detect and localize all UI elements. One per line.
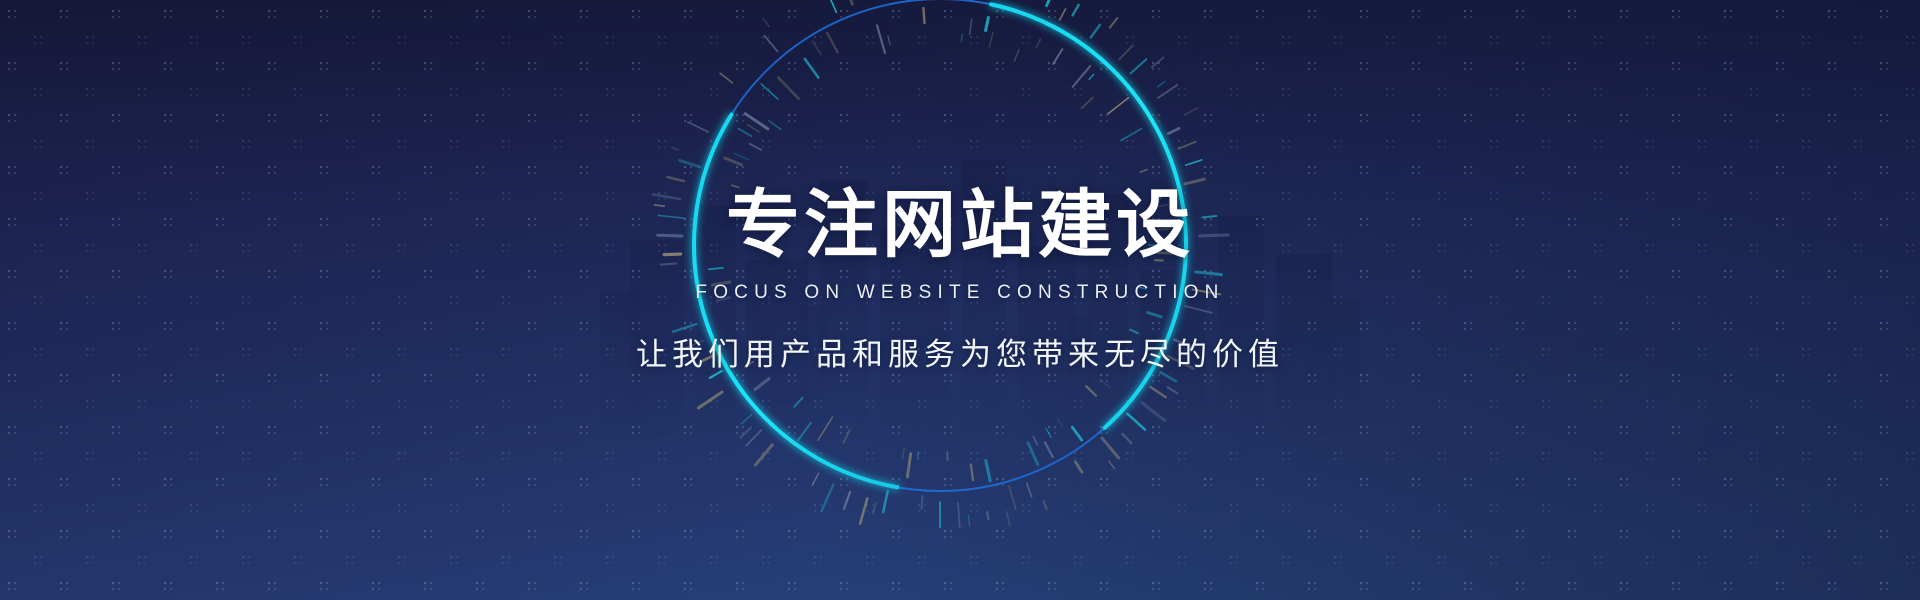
- ring-tick: [844, 492, 850, 509]
- ring-tick: [673, 324, 696, 332]
- ring-tick: [672, 147, 679, 149]
- ring-tick: [654, 205, 664, 206]
- ring-tick: [747, 125, 759, 132]
- ring-tick: [1178, 142, 1195, 149]
- ring-tick: [923, 8, 924, 23]
- ring-tick: [902, 449, 904, 459]
- ring-tick: [664, 254, 680, 255]
- ring-tick: [812, 473, 818, 485]
- ring-tick: [720, 73, 732, 83]
- ring-tick: [1027, 483, 1032, 497]
- ring-tick: [1155, 253, 1176, 254]
- ring-tick: [805, 59, 818, 78]
- ring-highlight-arc-bottom: [694, 115, 897, 488]
- ring-tick: [1082, 98, 1093, 109]
- ring-tick: [745, 362, 753, 367]
- ring-tick: [1168, 128, 1179, 133]
- ring-tick: [755, 379, 769, 390]
- ring-tick: [968, 515, 969, 526]
- ring-tick: [1089, 74, 1093, 79]
- ring-tick: [1152, 58, 1164, 68]
- ring-tick: [756, 445, 773, 465]
- ring-tick: [1131, 59, 1147, 73]
- ring-tick: [1127, 414, 1145, 430]
- ring-tick: [794, 398, 802, 407]
- ring-tick: [989, 32, 993, 46]
- ring-tick: [844, 430, 850, 443]
- ring-tick: [1047, 0, 1057, 6]
- ring-tick: [1006, 512, 1010, 526]
- ring-tick: [658, 215, 684, 218]
- ring-tick: [1045, 443, 1053, 457]
- background-top-shade: [0, 0, 1920, 600]
- ring-tick: [1185, 306, 1212, 313]
- ring-tick: [1108, 98, 1128, 114]
- ring-tick: [732, 185, 739, 187]
- ring-tick: [1153, 198, 1160, 200]
- ring-tick: [822, 484, 834, 510]
- ring-tick: [1109, 461, 1115, 469]
- ring-tick: [1155, 260, 1163, 261]
- dot-grid-pattern: [0, 0, 1920, 600]
- ring-tick: [769, 120, 781, 129]
- ring-tick: [746, 430, 761, 446]
- ring-tick: [877, 25, 885, 53]
- ring-tick: [1091, 25, 1100, 38]
- ring-tick: [658, 235, 682, 236]
- ring-tick: [813, 41, 822, 55]
- ring-tick: [922, 496, 923, 509]
- ring-tick: [827, 33, 837, 53]
- ring-tick: [1148, 312, 1162, 316]
- ring-tick: [717, 298, 729, 301]
- ring-tick: [986, 460, 990, 480]
- ring-tick: [734, 153, 748, 159]
- banner-tagline: 让我们用产品和服务为您带来无尽的价值: [636, 329, 1284, 374]
- ring-tick: [883, 491, 887, 512]
- ring-tick: [1196, 272, 1222, 275]
- ring-tick: [1046, 429, 1051, 438]
- ring-tick: [1053, 49, 1062, 64]
- ring-tick: [668, 177, 684, 181]
- ring-tick: [830, 0, 836, 12]
- ring-tick: [1014, 49, 1019, 61]
- ring-tick: [750, 144, 761, 150]
- ring-tick: [702, 356, 713, 361]
- ring-highlight-arc-top: [991, 4, 1186, 427]
- ring-tick: [1110, 18, 1117, 28]
- ring-tick: [1202, 216, 1216, 217]
- ring-tick: [1028, 443, 1038, 465]
- ring-tick: [741, 415, 751, 424]
- ring-tick: [740, 428, 750, 438]
- ring-tick: [1148, 205, 1168, 209]
- ring-tick: [1073, 5, 1079, 15]
- ring-tick: [971, 464, 973, 480]
- ring-tick: [1044, 501, 1047, 509]
- banner-title: 专注网站建设: [726, 188, 1194, 262]
- ring-tick: [907, 454, 910, 477]
- ring-tick: [1193, 290, 1221, 295]
- ring-tick: [1168, 356, 1194, 368]
- ring-tick: [987, 512, 988, 519]
- ring-tick: [778, 78, 798, 99]
- ring-tick: [1086, 386, 1096, 395]
- ring-tick: [961, 34, 962, 41]
- ring-tick: [761, 84, 778, 99]
- dot-grid-pattern-secondary: [0, 0, 1920, 600]
- ring-tick: [1036, 39, 1040, 47]
- ring-tick: [1130, 330, 1138, 333]
- ring-tick: [680, 160, 700, 167]
- ring-tick: [848, 0, 852, 4]
- ring-tick: [1119, 46, 1132, 60]
- ring-tick: [765, 36, 778, 52]
- ring-tick: [1174, 340, 1190, 346]
- ring-tick: [1184, 108, 1197, 115]
- ring-tick: [1150, 387, 1165, 397]
- ring-tick: [860, 499, 867, 524]
- ring-tick: [818, 417, 832, 440]
- ring-tick: [725, 158, 742, 165]
- ring-tick: [712, 282, 730, 285]
- ring-tick: [1121, 129, 1141, 141]
- ring-tick: [1033, 436, 1037, 444]
- ring-tick: [918, 452, 919, 458]
- ring-outline-circle: [694, 0, 1186, 491]
- tech-ring-graphic: [0, 0, 1920, 600]
- background-right-shade: [0, 0, 1920, 600]
- ring-tick: [709, 268, 723, 269]
- ring-tick: [1158, 82, 1165, 87]
- ring-tick: [1060, 9, 1066, 20]
- ring-tick: [688, 122, 709, 132]
- ring-tick: [798, 423, 811, 440]
- ring-tick: [986, 18, 989, 31]
- cityscape-silhouette: [600, 120, 1360, 440]
- ring-tick: [1160, 372, 1176, 381]
- ring-tick: [1100, 379, 1109, 387]
- ring-tick: [679, 341, 703, 351]
- ring-tick: [1076, 462, 1082, 472]
- ring-tick: [1009, 486, 1016, 509]
- banner-subtitle: FOCUS ON WEBSITE CONSTRUCTION: [695, 282, 1224, 304]
- ring-tick: [653, 194, 680, 199]
- ring-tick: [1157, 229, 1168, 230]
- ring-tick: [1122, 434, 1131, 443]
- ring-tick: [738, 129, 751, 136]
- ring-tick: [888, 36, 890, 45]
- ring-tick: [1185, 179, 1204, 184]
- ring-tick: [1142, 403, 1165, 421]
- ring-tick: [1168, 387, 1177, 393]
- ring-tick: [1158, 85, 1177, 98]
- ring-tick: [1058, 419, 1063, 426]
- ring-tick: [763, 19, 769, 27]
- ring-tick: [873, 503, 876, 513]
- ring-tick: [970, 19, 972, 34]
- ring-tick: [1140, 170, 1147, 172]
- ring-tick: [661, 263, 676, 264]
- ring-tick: [1138, 287, 1147, 289]
- hero-banner: 专注网站建设 FOCUS ON WEBSITE CONSTRUCTION 让我们…: [0, 0, 1920, 600]
- ring-tick: [1200, 235, 1228, 236]
- ring-tick: [1186, 160, 1202, 165]
- ring-tick-marks: [653, 0, 1228, 527]
- ring-tick: [1102, 438, 1118, 458]
- ring-tick: [745, 114, 768, 129]
- ring-tick: [710, 371, 722, 378]
- ring-tick: [1072, 427, 1081, 440]
- ring-tick: [1073, 66, 1090, 87]
- banner-content: 专注网站建设 FOCUS ON WEBSITE CONSTRUCTION 让我们…: [0, 0, 1920, 600]
- ring-tick: [698, 392, 722, 408]
- ring-tick: [958, 503, 960, 528]
